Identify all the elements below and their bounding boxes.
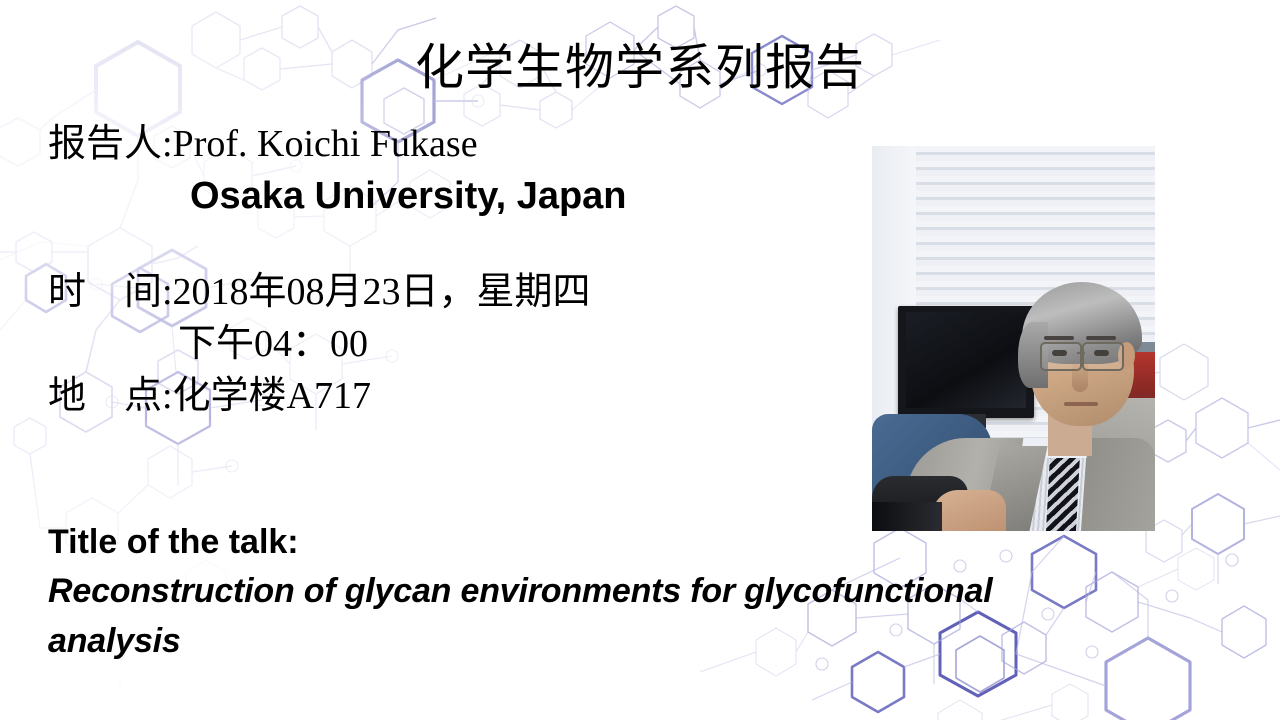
photo-mouth	[1064, 402, 1098, 406]
speaker-name-line: 报告人:Prof. Koichi Fukase	[48, 118, 848, 170]
photo-eyebrow-left	[1044, 336, 1074, 340]
photo-eyeglass-right	[1082, 342, 1124, 371]
event-time-line: 时 间:2018年08月23日，星期四	[48, 266, 868, 318]
talk-title-block: Title of the talk: Reconstruction of gly…	[48, 518, 1138, 666]
speaker-photo	[872, 146, 1155, 531]
event-venue-line: 地 点:化学楼A717	[48, 370, 868, 422]
page-title: 化学生物学系列报告	[0, 40, 1280, 96]
photo-eyebrow-right	[1086, 336, 1116, 340]
talk-title-line-2: analysis	[48, 616, 1138, 666]
event-details-block: 时 间:2018年08月23日，星期四 下午04：00 地 点:化学楼A717	[48, 266, 868, 422]
photo-nose	[1072, 360, 1088, 392]
speaker-affiliation-line: Osaka University, Japan	[48, 170, 848, 222]
presentation-slide: 化学生物学系列报告 报告人:Prof. Koichi Fukase Osaka …	[0, 0, 1280, 720]
speaker-block: 报告人:Prof. Koichi Fukase Osaka University…	[48, 118, 848, 222]
event-time-line-2: 下午04：00	[48, 318, 868, 370]
photo-eyeglass-bridge	[1077, 352, 1085, 354]
photo-monitor-screen	[906, 312, 1026, 408]
talk-title-label: Title of the talk:	[48, 518, 1138, 566]
talk-title-line-1: Reconstruction of glycan environments fo…	[48, 566, 1138, 616]
